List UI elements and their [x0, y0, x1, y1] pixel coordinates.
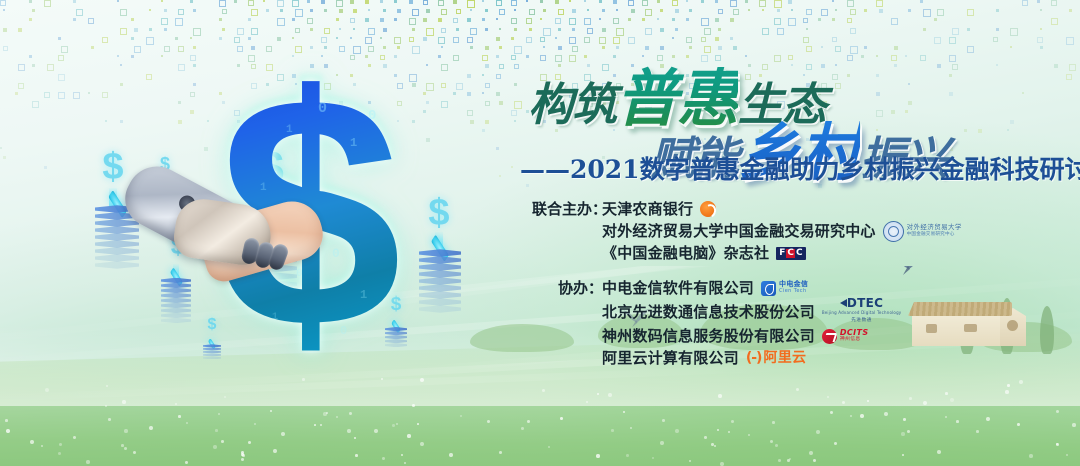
pattern-square — [120, 28, 127, 35]
flower — [336, 416, 338, 418]
flower — [396, 423, 398, 425]
pattern-square — [292, 0, 299, 7]
pattern-square — [879, 9, 883, 13]
co-host-label: 联合主办： — [532, 198, 602, 220]
pattern-square — [412, 28, 415, 31]
pattern-square — [704, 28, 711, 35]
pattern-square — [496, 0, 502, 6]
pattern-square — [602, 9, 605, 12]
flower — [449, 453, 453, 457]
pattern-square — [952, 28, 959, 35]
pattern-square — [762, 28, 769, 35]
pattern-square — [511, 18, 517, 24]
dcits-logo-text: DCITS 神州信息 — [840, 329, 869, 343]
flower — [976, 430, 979, 433]
pattern-square — [91, 46, 94, 49]
pattern-square — [32, 9, 35, 12]
pattern-square — [161, 0, 163, 2]
pattern-square — [934, 18, 937, 21]
flower — [45, 388, 49, 392]
pattern-square — [748, 9, 750, 11]
pattern-square — [131, 37, 134, 40]
cgi-logo-line-2: Cien Tech — [779, 288, 808, 295]
pattern-square — [730, 0, 737, 7]
flower — [1017, 423, 1020, 426]
pattern-square — [190, 37, 192, 39]
pattern-square — [923, 9, 931, 17]
pattern-square — [835, 9, 837, 11]
pattern-square — [514, 28, 517, 31]
pattern-square — [788, 0, 792, 4]
pattern-square — [718, 28, 721, 31]
pattern-square — [438, 18, 442, 22]
flower — [903, 418, 906, 421]
pattern-square — [394, 18, 397, 21]
flower — [185, 461, 188, 464]
bank-swirl-icon — [700, 201, 716, 217]
pattern-square — [529, 28, 532, 31]
pattern-square — [161, 18, 168, 25]
cgi-logo-text: 中电金信 Cien Tech — [779, 281, 808, 295]
pattern-square — [117, 0, 119, 2]
pattern-square — [715, 37, 719, 41]
pattern-square — [0, 147, 2, 149]
binary-digit: 1 — [350, 136, 357, 150]
pattern-square — [321, 0, 325, 4]
pattern-square — [657, 0, 660, 3]
flower — [213, 445, 217, 449]
pattern-square — [485, 9, 488, 12]
pattern-square — [456, 28, 459, 31]
subtitle: ——2021数字普惠金融助力乡村振兴金融科技研讨会 — [520, 150, 1080, 186]
pattern-square — [569, 18, 576, 25]
pattern-square — [908, 9, 911, 12]
pattern-square — [44, 92, 50, 98]
pattern-square — [482, 92, 484, 94]
flower — [1007, 384, 1010, 387]
pattern-square — [967, 9, 974, 16]
pattern-square — [996, 9, 999, 12]
pattern-square — [514, 9, 516, 11]
dcits-mark-icon — [822, 329, 837, 344]
pattern-square — [423, 18, 427, 22]
pattern-square — [759, 0, 766, 7]
pattern-square — [18, 83, 24, 89]
pattern-square — [613, 0, 617, 4]
pattern-square — [967, 28, 970, 31]
pattern-square — [672, 18, 675, 21]
pattern-square — [876, 0, 883, 7]
pattern-square — [599, 0, 602, 3]
pattern-square — [88, 92, 90, 94]
pattern-square — [409, 18, 416, 25]
flower — [124, 429, 128, 433]
flower — [956, 420, 959, 423]
flower — [902, 454, 904, 456]
stack-layer — [161, 313, 191, 318]
pattern-square — [412, 9, 419, 16]
pattern-square — [496, 55, 499, 58]
pattern-square — [818, 18, 821, 21]
pattern-square — [134, 28, 138, 32]
aliyun-word: 阿里云 — [763, 347, 806, 369]
co-organizer-row-2: 北京先进数通信息技术股份公司 DTEC Beijing Advanced Dig… — [532, 299, 1072, 325]
binary-digit: 0 — [340, 324, 347, 338]
co-organizer-block: 协办： 中电金信软件有限公司 中电金信 Cien Tech 北京先进数通信息技术… — [532, 277, 1072, 369]
pattern-square — [599, 18, 601, 20]
flower — [407, 434, 411, 438]
pattern-square — [496, 18, 498, 20]
pattern-square — [193, 9, 196, 12]
pattern-square — [1040, 28, 1042, 30]
pattern-square — [891, 18, 898, 25]
pattern-square — [47, 64, 54, 71]
flower — [560, 417, 563, 420]
pattern-square — [631, 9, 635, 13]
pattern-square — [467, 18, 471, 22]
uibe-seal-icon — [883, 221, 904, 242]
pattern-square — [642, 0, 648, 6]
pattern-square — [453, 18, 458, 23]
flower — [860, 414, 864, 418]
pattern-square — [806, 9, 812, 15]
pattern-square — [628, 0, 634, 6]
flower — [382, 457, 385, 460]
stack-layer — [161, 308, 191, 313]
flower — [611, 429, 614, 432]
pattern-square — [73, 92, 80, 99]
pattern-square — [438, 0, 444, 6]
pattern-square — [485, 64, 489, 68]
pattern-square — [832, 18, 835, 21]
pattern-square — [219, 18, 222, 21]
pattern-square — [657, 18, 659, 20]
flower — [122, 400, 126, 404]
pattern-square — [569, 37, 576, 44]
pattern-square — [467, 0, 475, 8]
pattern-square — [164, 9, 167, 12]
pattern-square — [584, 0, 586, 2]
pattern-square — [1037, 0, 1040, 3]
pattern-square — [365, 18, 369, 22]
dtec-subtext: Beijing Advanced Digital Technology — [822, 309, 902, 317]
flower — [30, 440, 34, 444]
pattern-square — [526, 18, 532, 24]
flower — [1029, 454, 1033, 458]
pattern-square — [29, 55, 32, 58]
flower — [221, 440, 224, 443]
pattern-square — [672, 37, 674, 39]
pattern-square — [660, 28, 664, 32]
flower — [347, 429, 351, 433]
uibe-logo-text: 对外经济贸易大学 中国金融交易研究中心 — [907, 224, 962, 238]
pattern-square — [715, 0, 718, 3]
pattern-square — [292, 18, 295, 21]
dtec-word: DTEC — [847, 299, 883, 307]
organizer-section: 联合主办： 天津农商银行 对外经济贸易大学中国金融交易研究中心 对外经济贸易大学… — [532, 198, 1072, 382]
pattern-square — [628, 18, 631, 21]
pattern-square — [336, 18, 339, 21]
pattern-square — [426, 28, 434, 36]
pattern-square — [485, 120, 489, 124]
pattern-square — [543, 9, 546, 12]
pattern-square — [219, 0, 226, 7]
pattern-square — [18, 64, 25, 71]
fcc-logo: FCC — [776, 247, 805, 260]
pattern-square — [58, 74, 65, 81]
flower — [6, 429, 10, 433]
flower — [542, 389, 545, 392]
pattern-square — [832, 0, 834, 2]
pattern-square — [572, 9, 576, 13]
cgi-logo-line-1: 中电金信 — [779, 281, 808, 288]
flower — [816, 430, 820, 434]
pattern-square — [485, 46, 489, 50]
pattern-square — [645, 28, 652, 35]
pattern-square — [32, 64, 35, 67]
pattern-square — [423, 0, 428, 5]
co-host-block: 联合主办： 天津农商银行 对外经济贸易大学中国金融交易研究中心 对外经济贸易大学… — [532, 198, 1072, 264]
flower — [720, 462, 724, 466]
flower — [5, 419, 8, 422]
pattern-square — [251, 9, 258, 16]
pattern-square — [453, 37, 459, 43]
flower — [175, 403, 177, 405]
flower — [945, 392, 948, 395]
pattern-square — [715, 18, 719, 22]
pattern-square — [470, 46, 473, 49]
pattern-square — [628, 37, 635, 44]
stack-layer — [161, 318, 191, 323]
pattern-square — [149, 9, 151, 11]
pattern-square — [178, 9, 184, 15]
co-organizer-label: 协办： — [532, 277, 602, 299]
flower — [660, 441, 664, 445]
flower — [86, 460, 90, 464]
pattern-square — [949, 37, 956, 44]
pattern-square — [266, 9, 269, 12]
pattern-square — [777, 28, 784, 35]
robot-human-handshake — [123, 180, 323, 292]
flower — [412, 404, 415, 407]
pattern-square — [599, 37, 606, 44]
pattern-square — [263, 0, 265, 2]
flower — [392, 424, 395, 427]
pattern-square — [3, 28, 7, 32]
stack-layer — [161, 293, 191, 298]
stack-layer — [161, 303, 191, 308]
pattern-square — [482, 0, 484, 2]
binary-digit: 0 — [368, 108, 376, 124]
pattern-square — [543, 28, 551, 36]
pattern-square — [602, 28, 606, 32]
pattern-square — [441, 28, 446, 33]
pattern-square — [774, 0, 782, 8]
aliyun-mark-icon: (-) — [746, 347, 762, 369]
pattern-square — [555, 0, 559, 4]
co-organizer-row-4: 阿里云计算有限公司 (-) 阿里云 — [532, 347, 1072, 369]
flower — [718, 394, 722, 398]
pattern-square — [745, 0, 748, 3]
pattern-square — [555, 37, 557, 39]
flower — [608, 393, 612, 397]
flower — [548, 446, 550, 448]
flower — [626, 454, 629, 457]
uibe-logo-line-2: 中国金融交易研究中心 — [907, 231, 962, 238]
pattern-square — [58, 92, 65, 99]
flower — [986, 417, 990, 421]
fcc-letter-2: C — [786, 249, 795, 258]
pattern-square — [788, 18, 796, 26]
flower — [417, 423, 419, 425]
pattern-square — [485, 83, 490, 88]
pattern-square — [686, 0, 688, 2]
pattern-square — [222, 9, 227, 14]
pattern-square — [730, 18, 734, 22]
pattern-square — [353, 9, 357, 13]
pattern-square — [295, 9, 303, 17]
flower — [521, 427, 524, 430]
pattern-square — [499, 9, 505, 15]
pattern-square — [61, 46, 68, 53]
pattern-square — [3, 46, 8, 51]
pattern-square — [29, 0, 32, 3]
pattern-square — [733, 9, 739, 15]
binary-digit: 0 — [332, 246, 340, 261]
headline-l1-part-1: 构筑 — [528, 78, 616, 131]
pattern-square — [832, 37, 837, 42]
pattern-square — [76, 9, 83, 16]
co-organizer-name-3: 神州数码信息服务股份有限公司 — [602, 325, 815, 347]
pattern-square — [645, 9, 652, 16]
flower — [178, 415, 181, 418]
flower — [1072, 423, 1076, 427]
pattern-square — [1069, 9, 1072, 12]
pattern-square — [426, 9, 430, 13]
flower — [596, 454, 600, 458]
pattern-square — [701, 37, 706, 42]
pattern-square — [584, 37, 590, 43]
co-organizer-row-1: 协办： 中电金信软件有限公司 中电金信 Cien Tech — [532, 277, 1072, 299]
pattern-square — [441, 46, 443, 48]
flower — [717, 429, 719, 431]
pattern-square — [558, 9, 564, 15]
flower — [901, 432, 905, 436]
aliyun-logo: (-) 阿里云 — [746, 347, 807, 369]
flower — [923, 401, 927, 405]
pattern-square — [485, 28, 488, 31]
co-host-name-2: 对外经济贸易大学中国金融交易研究中心 — [602, 220, 876, 242]
co-host-row-1: 联合主办： 天津农商银行 — [532, 198, 1072, 220]
flower — [124, 447, 127, 450]
pattern-square — [540, 37, 545, 42]
pattern-square — [3, 9, 5, 11]
flower — [314, 424, 316, 426]
flower — [499, 451, 502, 454]
binary-digit: 1 — [286, 124, 293, 136]
pattern-square — [58, 55, 64, 61]
flower — [320, 424, 322, 426]
pattern-square — [397, 9, 401, 13]
flower — [105, 405, 107, 407]
pattern-square — [850, 28, 856, 34]
pattern-square — [934, 37, 941, 44]
pattern-square — [102, 37, 108, 43]
flower — [218, 413, 220, 415]
fcc-letter-1: F — [779, 249, 785, 258]
fcc-letter-3: C — [796, 249, 803, 258]
pattern-square — [613, 37, 620, 44]
pattern-square — [526, 37, 532, 43]
flower — [242, 454, 245, 457]
pattern-square — [675, 28, 678, 31]
pattern-square — [701, 18, 709, 26]
flower — [273, 449, 277, 453]
pattern-square — [88, 18, 94, 24]
pattern-square — [409, 0, 413, 4]
pattern-square — [499, 28, 501, 30]
pattern-square — [339, 9, 343, 13]
co-organizer-name-2: 北京先进数通信息技术股份公司 — [602, 301, 815, 323]
pattern-square — [569, 0, 571, 2]
flower — [1056, 443, 1059, 446]
pattern-square — [18, 28, 22, 32]
pattern-square — [482, 55, 488, 61]
pattern-square — [558, 28, 561, 31]
pattern-square — [540, 0, 543, 3]
pattern-square — [470, 28, 477, 35]
pattern-square — [193, 28, 201, 36]
tianjin-rural-commercial-bank-logo — [700, 201, 716, 217]
pattern-square — [642, 18, 645, 21]
pattern-square — [44, 166, 47, 169]
pattern-square — [32, 101, 39, 108]
uibe-logo-line-1: 对外经济贸易大学 — [907, 224, 962, 231]
pattern-square — [175, 37, 178, 40]
flower — [527, 420, 530, 423]
pattern-square — [73, 18, 76, 21]
pattern-square — [307, 0, 310, 3]
pattern-square — [15, 92, 18, 95]
pattern-square — [234, 0, 237, 3]
pattern-square — [380, 0, 383, 3]
pattern-square — [277, 0, 284, 7]
binary-digit: 1 — [360, 288, 367, 302]
pattern-square — [131, 18, 134, 21]
flower — [884, 412, 888, 416]
flower — [772, 421, 775, 424]
pattern-square — [686, 37, 692, 43]
co-host-name-1: 天津农商银行 — [602, 198, 693, 220]
pattern-square — [423, 37, 427, 41]
flower — [254, 423, 256, 425]
flower — [787, 459, 790, 462]
pattern-square — [937, 9, 944, 16]
pattern-square — [1051, 18, 1058, 25]
pattern-square — [409, 37, 414, 42]
pattern-square — [248, 18, 251, 21]
pattern-square — [920, 0, 923, 3]
pattern-square — [587, 9, 589, 11]
flower — [704, 436, 707, 439]
pattern-square — [394, 0, 397, 3]
uibe-seal-logo: 对外经济贸易大学 中国金融交易研究中心 — [883, 221, 962, 242]
flower — [809, 451, 813, 455]
pattern-square — [58, 37, 61, 40]
pattern-square — [847, 18, 852, 23]
pattern-square — [280, 9, 283, 12]
pattern-square — [29, 18, 32, 21]
